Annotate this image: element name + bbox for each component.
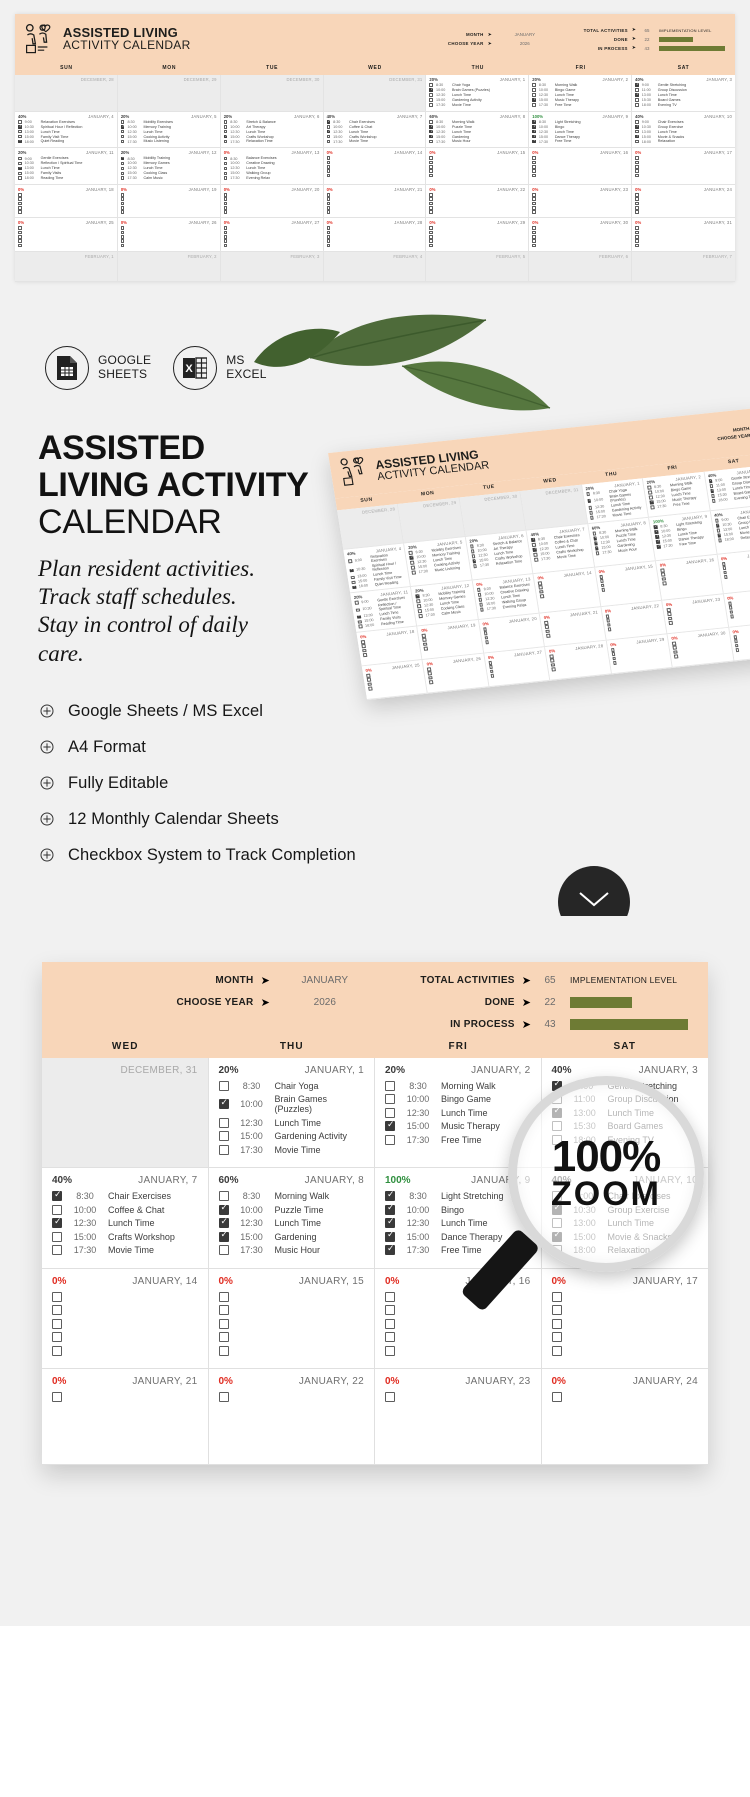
activity-row[interactable] xyxy=(327,156,423,160)
activity-checkbox[interactable] xyxy=(327,235,331,239)
zoomed-activity-row[interactable]: 12:30Lunch Time xyxy=(219,1218,365,1228)
activity-row[interactable]: 18:00Reading Time xyxy=(18,176,114,180)
zoomed-activity-row[interactable] xyxy=(219,1292,365,1302)
activity-row[interactable]: 15:30Board Games xyxy=(635,98,732,102)
activity-checkbox[interactable] xyxy=(635,193,639,197)
activity-row[interactable]: 8:30Mobility Training xyxy=(121,156,217,160)
activity-row[interactable] xyxy=(635,165,732,169)
activity-checkbox[interactable] xyxy=(121,244,125,248)
activity-row[interactable] xyxy=(429,239,525,243)
zoomed-activity-row[interactable]: 17:30Music Hour xyxy=(219,1245,365,1255)
activity-checkbox[interactable] xyxy=(18,157,22,161)
activity-row[interactable] xyxy=(121,239,217,243)
zoomed-activity-row[interactable]: 15:00Gardening xyxy=(219,1232,365,1242)
activity-row[interactable]: 10:00Bingo xyxy=(532,125,628,129)
activity-checkbox[interactable] xyxy=(121,206,125,210)
activity-checkbox[interactable] xyxy=(327,169,331,173)
activity-checkbox[interactable] xyxy=(18,202,22,206)
activity-row[interactable] xyxy=(635,231,732,235)
zoomed-activity-row[interactable] xyxy=(552,1305,699,1315)
activity-checkbox[interactable] xyxy=(327,197,331,201)
zoomed-activity-row[interactable] xyxy=(52,1305,198,1315)
scroll-down-button[interactable] xyxy=(558,866,630,916)
activity-checkbox[interactable] xyxy=(327,135,331,139)
activity-checkbox[interactable] xyxy=(429,244,433,248)
activity-row[interactable] xyxy=(121,226,217,230)
activity-row[interactable]: 9:00Relaxation Exercises xyxy=(18,120,114,124)
activity-row[interactable]: 15:00Gardening xyxy=(429,135,525,139)
activity-row[interactable] xyxy=(429,206,525,210)
activity-row[interactable] xyxy=(429,210,525,214)
activity-row[interactable]: 8:30Chair Yoga xyxy=(429,83,525,87)
activity-checkbox[interactable] xyxy=(532,156,536,160)
zoomed-activity-row[interactable]: 17:30Movie Time xyxy=(219,1145,365,1155)
zoomed-activity-checkbox[interactable] xyxy=(219,1131,229,1141)
zoomed-activity-row[interactable] xyxy=(52,1332,198,1342)
activity-row[interactable] xyxy=(635,206,732,210)
zoomed-activity-checkbox[interactable] xyxy=(219,1205,229,1215)
activity-checkbox[interactable] xyxy=(532,98,536,102)
activity-checkbox[interactable] xyxy=(327,193,331,197)
activity-row[interactable] xyxy=(532,161,628,165)
zoomed-activity-row[interactable] xyxy=(219,1332,365,1342)
activity-checkbox[interactable] xyxy=(121,167,125,171)
activity-checkbox[interactable] xyxy=(18,193,22,197)
activity-checkbox[interactable] xyxy=(429,103,433,107)
activity-checkbox[interactable] xyxy=(327,165,331,169)
activity-checkbox[interactable] xyxy=(121,130,125,134)
activity-row[interactable] xyxy=(224,231,320,235)
activity-row[interactable] xyxy=(532,193,628,197)
zoomed-activity-checkbox[interactable] xyxy=(385,1135,395,1145)
activity-row[interactable]: 15:00Music Therapy xyxy=(532,98,628,102)
zoomed-activity-checkbox[interactable] xyxy=(385,1094,395,1104)
activity-checkbox[interactable] xyxy=(327,210,331,214)
activity-row[interactable] xyxy=(224,226,320,230)
activity-checkbox[interactable] xyxy=(327,244,331,248)
zoomed-activity-checkbox[interactable] xyxy=(219,1346,229,1356)
activity-row[interactable] xyxy=(18,231,114,235)
activity-checkbox[interactable] xyxy=(635,93,639,97)
activity-row[interactable]: 13:00Lunch Time xyxy=(635,93,732,97)
activity-checkbox[interactable] xyxy=(429,239,433,243)
activity-checkbox[interactable] xyxy=(224,235,228,239)
zoomed-activity-checkbox[interactable] xyxy=(552,1319,562,1329)
activity-checkbox[interactable] xyxy=(18,130,22,134)
activity-checkbox[interactable] xyxy=(224,140,228,144)
activity-row[interactable]: 10:00Coffee & Chat xyxy=(327,125,423,129)
activity-row[interactable] xyxy=(18,244,114,248)
activity-checkbox[interactable] xyxy=(532,161,536,165)
zoomed-activity-checkbox[interactable] xyxy=(219,1319,229,1329)
activity-checkbox[interactable] xyxy=(532,210,536,214)
activity-checkbox[interactable] xyxy=(635,135,639,139)
activity-checkbox[interactable] xyxy=(121,157,125,161)
zoomed-activity-checkbox[interactable] xyxy=(385,1108,395,1118)
zoomed-activity-checkbox[interactable] xyxy=(219,1145,229,1155)
activity-checkbox[interactable] xyxy=(327,174,331,178)
zoomed-activity-checkbox[interactable] xyxy=(52,1191,62,1201)
activity-checkbox[interactable] xyxy=(429,226,433,230)
zoomed-activity-checkbox[interactable] xyxy=(52,1392,62,1402)
zoomed-activity-row[interactable] xyxy=(385,1305,531,1315)
activity-checkbox[interactable] xyxy=(327,140,331,144)
activity-checkbox[interactable] xyxy=(224,172,228,176)
activity-checkbox[interactable] xyxy=(532,83,536,87)
activity-checkbox[interactable] xyxy=(224,125,228,129)
activity-checkbox[interactable] xyxy=(532,231,536,235)
activity-row[interactable] xyxy=(429,197,525,201)
activity-checkbox[interactable] xyxy=(635,103,639,107)
activity-checkbox[interactable] xyxy=(224,197,228,201)
zoomed-activity-checkbox[interactable] xyxy=(552,1305,562,1315)
zoomed-activity-checkbox[interactable] xyxy=(219,1392,229,1402)
activity-row[interactable] xyxy=(327,161,423,165)
activity-checkbox[interactable] xyxy=(121,140,125,144)
activity-row[interactable]: 17:30Calm Music xyxy=(121,176,217,180)
activity-checkbox[interactable] xyxy=(18,197,22,201)
activity-checkbox[interactable] xyxy=(121,125,125,129)
activity-checkbox[interactable] xyxy=(429,135,433,139)
activity-checkbox[interactable] xyxy=(18,176,22,180)
activity-checkbox[interactable] xyxy=(532,165,536,169)
activity-row[interactable]: 17:30Movie Time xyxy=(429,103,525,107)
activity-checkbox[interactable] xyxy=(635,161,639,165)
activity-checkbox[interactable] xyxy=(532,88,536,92)
zoomed-activity-row[interactable] xyxy=(52,1319,198,1329)
activity-checkbox[interactable] xyxy=(121,226,125,230)
activity-row[interactable] xyxy=(224,193,320,197)
activity-checkbox[interactable] xyxy=(635,244,639,248)
zoomed-activity-row[interactable]: 15:00Crafts Workshop xyxy=(52,1232,198,1242)
activity-row[interactable] xyxy=(532,174,628,178)
activity-checkbox[interactable] xyxy=(532,226,536,230)
zoomed-activity-row[interactable] xyxy=(385,1292,531,1302)
activity-checkbox[interactable] xyxy=(635,235,639,239)
activity-checkbox[interactable] xyxy=(429,98,433,102)
activity-row[interactable]: 10:30Spiritual Hour / Reflection xyxy=(18,125,114,129)
activity-checkbox[interactable] xyxy=(635,231,639,235)
activity-row[interactable] xyxy=(327,244,423,248)
activity-checkbox[interactable] xyxy=(635,169,639,173)
activity-row[interactable]: 15:00Movie & Snacks xyxy=(635,135,732,139)
zoomed-activity-row[interactable] xyxy=(219,1319,365,1329)
activity-checkbox[interactable] xyxy=(429,165,433,169)
activity-row[interactable] xyxy=(635,244,732,248)
activity-row[interactable] xyxy=(18,202,114,206)
activity-checkbox[interactable] xyxy=(532,244,536,248)
activity-row[interactable]: 10:00Brain Games (Puzzles) xyxy=(429,88,525,92)
activity-row[interactable] xyxy=(532,235,628,239)
activity-checkbox[interactable] xyxy=(532,197,536,201)
activity-row[interactable] xyxy=(532,206,628,210)
activity-row[interactable] xyxy=(327,193,423,197)
activity-checkbox[interactable] xyxy=(327,231,331,235)
activity-row[interactable]: 12:30Lunch Time xyxy=(121,166,217,170)
activity-row[interactable] xyxy=(18,197,114,201)
zoomed-year-value[interactable]: 2026 xyxy=(277,997,373,1008)
activity-row[interactable] xyxy=(429,169,525,173)
activity-row[interactable] xyxy=(429,231,525,235)
activity-row[interactable]: 17:30Movie Time xyxy=(327,139,423,143)
zoomed-activity-checkbox[interactable] xyxy=(385,1292,395,1302)
zoomed-activity-row[interactable] xyxy=(552,1292,699,1302)
zoomed-activity-row[interactable]: 8:30Morning Walk xyxy=(219,1191,365,1201)
activity-row[interactable] xyxy=(121,235,217,239)
zoomed-activity-row[interactable] xyxy=(219,1346,365,1356)
activity-row[interactable]: 12:30Lunch Time xyxy=(532,93,628,97)
activity-row[interactable]: 9:00Chair Exercises xyxy=(635,120,732,124)
activity-checkbox[interactable] xyxy=(18,235,22,239)
zoomed-activity-row[interactable] xyxy=(385,1319,531,1329)
activity-row[interactable]: 10:00Memory Games xyxy=(121,161,217,165)
activity-checkbox[interactable] xyxy=(532,174,536,178)
activity-row[interactable]: 17:30Music Hour xyxy=(429,139,525,143)
activity-row[interactable] xyxy=(532,165,628,169)
zoomed-activity-checkbox[interactable] xyxy=(219,1099,229,1109)
activity-row[interactable] xyxy=(18,193,114,197)
activity-row[interactable] xyxy=(327,197,423,201)
activity-row[interactable] xyxy=(532,197,628,201)
activity-row[interactable] xyxy=(18,235,114,239)
zoomed-activity-checkbox[interactable] xyxy=(52,1332,62,1342)
activity-checkbox[interactable] xyxy=(224,130,228,134)
activity-checkbox[interactable] xyxy=(327,239,331,243)
zoomed-activity-row[interactable] xyxy=(552,1332,699,1342)
activity-checkbox[interactable] xyxy=(18,140,22,144)
activity-row[interactable]: 18:00Evening TV xyxy=(635,103,732,107)
activity-row[interactable]: 12:30Lunch Time xyxy=(224,166,320,170)
activity-row[interactable] xyxy=(224,210,320,214)
zoomed-activity-checkbox[interactable] xyxy=(385,1232,395,1242)
zoomed-month-value[interactable]: JANUARY xyxy=(277,975,373,986)
activity-checkbox[interactable] xyxy=(635,130,639,134)
activity-row[interactable] xyxy=(429,161,525,165)
zoomed-activity-row[interactable] xyxy=(385,1392,531,1402)
activity-row[interactable] xyxy=(429,174,525,178)
activity-row[interactable]: 17:30Free Time xyxy=(532,103,628,107)
activity-row[interactable] xyxy=(635,239,732,243)
activity-row[interactable] xyxy=(635,193,732,197)
zoomed-activity-row[interactable]: 15:00Gardening Activity xyxy=(219,1131,365,1141)
zoomed-activity-row[interactable]: 17:30Movie Time xyxy=(52,1245,198,1255)
activity-row[interactable] xyxy=(429,156,525,160)
zoomed-activity-row[interactable]: 8:30Chair Exercises xyxy=(52,1191,198,1201)
zoomed-activity-checkbox[interactable] xyxy=(385,1319,395,1329)
activity-row[interactable] xyxy=(224,244,320,248)
activity-checkbox[interactable] xyxy=(121,239,125,243)
activity-row[interactable]: 12:30Lunch Time xyxy=(532,130,628,134)
activity-checkbox[interactable] xyxy=(224,239,228,243)
activity-checkbox[interactable] xyxy=(429,130,433,134)
activity-row[interactable] xyxy=(429,165,525,169)
activity-row[interactable] xyxy=(327,169,423,173)
zoomed-activity-row[interactable] xyxy=(52,1392,198,1402)
year-value[interactable]: 2026 xyxy=(496,41,554,46)
activity-row[interactable] xyxy=(635,156,732,160)
zoomed-activity-checkbox[interactable] xyxy=(52,1232,62,1242)
activity-checkbox[interactable] xyxy=(635,98,639,102)
activity-row[interactable]: 9:00Gentle Exercises xyxy=(18,156,114,160)
activity-row[interactable]: 17:30Free Time xyxy=(532,139,628,143)
activity-checkbox[interactable] xyxy=(429,193,433,197)
activity-row[interactable]: 15:00Cooking Activity xyxy=(121,135,217,139)
activity-checkbox[interactable] xyxy=(532,169,536,173)
zoomed-activity-checkbox[interactable] xyxy=(219,1218,229,1228)
activity-checkbox[interactable] xyxy=(224,120,228,124)
activity-checkbox[interactable] xyxy=(121,135,125,139)
activity-checkbox[interactable] xyxy=(224,162,228,166)
activity-row[interactable] xyxy=(121,210,217,214)
zoomed-activity-checkbox[interactable] xyxy=(385,1245,395,1255)
activity-checkbox[interactable] xyxy=(327,156,331,160)
activity-checkbox[interactable] xyxy=(532,206,536,210)
zoomed-activity-row[interactable] xyxy=(552,1319,699,1329)
activity-row[interactable]: 9:00Gentle Stretching xyxy=(635,83,732,87)
activity-checkbox[interactable] xyxy=(121,210,125,214)
activity-row[interactable]: 8:30Morning Walk xyxy=(532,83,628,87)
zoomed-activity-checkbox[interactable] xyxy=(552,1392,562,1402)
zoomed-activity-row[interactable] xyxy=(552,1346,699,1356)
activity-checkbox[interactable] xyxy=(327,125,331,129)
activity-row[interactable]: 17:30Evening Relax xyxy=(224,176,320,180)
zoomed-activity-row[interactable] xyxy=(219,1392,365,1402)
activity-checkbox[interactable] xyxy=(224,135,228,139)
activity-checkbox[interactable] xyxy=(429,197,433,201)
activity-checkbox[interactable] xyxy=(224,231,228,235)
activity-row[interactable] xyxy=(532,210,628,214)
activity-row[interactable] xyxy=(18,210,114,214)
activity-row[interactable] xyxy=(327,202,423,206)
activity-checkbox[interactable] xyxy=(635,202,639,206)
zoomed-activity-row[interactable]: 12:30Lunch Time xyxy=(52,1218,198,1228)
activity-row[interactable]: 15:00Gardening Activity xyxy=(429,98,525,102)
activity-row[interactable]: 15:00Cooking Class xyxy=(121,171,217,175)
zoomed-activity-checkbox[interactable] xyxy=(552,1346,562,1356)
activity-checkbox[interactable] xyxy=(429,125,433,129)
activity-checkbox[interactable] xyxy=(532,140,536,144)
activity-row[interactable]: 11:00Group Discussion xyxy=(635,88,732,92)
activity-checkbox[interactable] xyxy=(18,244,22,248)
zoomed-activity-checkbox[interactable] xyxy=(219,1305,229,1315)
activity-row[interactable] xyxy=(18,239,114,243)
activity-row[interactable]: 8:30Morning Walk xyxy=(429,120,525,124)
zoomed-activity-checkbox[interactable] xyxy=(219,1081,229,1091)
activity-checkbox[interactable] xyxy=(429,93,433,97)
activity-row[interactable] xyxy=(532,239,628,243)
activity-row[interactable]: 13:00Lunch Time xyxy=(635,130,732,134)
activity-row[interactable] xyxy=(429,193,525,197)
activity-row[interactable] xyxy=(121,244,217,248)
activity-row[interactable] xyxy=(635,169,732,173)
activity-row[interactable]: 10:00Bingo Game xyxy=(532,88,628,92)
activity-row[interactable] xyxy=(327,174,423,178)
activity-checkbox[interactable] xyxy=(327,226,331,230)
zoomed-activity-row[interactable]: 10:00Brain Games (Puzzles) xyxy=(219,1094,365,1114)
activity-checkbox[interactable] xyxy=(18,231,22,235)
activity-checkbox[interactable] xyxy=(635,165,639,169)
activity-checkbox[interactable] xyxy=(224,226,228,230)
activity-row[interactable] xyxy=(635,197,732,201)
activity-row[interactable]: 12:30Lunch Time xyxy=(429,93,525,97)
zoomed-activity-checkbox[interactable] xyxy=(385,1191,395,1201)
activity-row[interactable] xyxy=(429,244,525,248)
activity-row[interactable]: 10:00Puzzle Time xyxy=(429,125,525,129)
activity-row[interactable] xyxy=(121,202,217,206)
activity-row[interactable] xyxy=(635,235,732,239)
activity-row[interactable]: 10:00Art Therapy xyxy=(224,125,320,129)
zoomed-activity-checkbox[interactable] xyxy=(219,1232,229,1242)
activity-checkbox[interactable] xyxy=(121,202,125,206)
activity-checkbox[interactable] xyxy=(224,206,228,210)
activity-checkbox[interactable] xyxy=(429,140,433,144)
activity-row[interactable]: 15:00Family Visit Time xyxy=(18,135,114,139)
activity-row[interactable] xyxy=(429,202,525,206)
activity-checkbox[interactable] xyxy=(635,239,639,243)
zoomed-activity-checkbox[interactable] xyxy=(52,1346,62,1356)
zoomed-activity-checkbox[interactable] xyxy=(52,1205,62,1215)
activity-row[interactable] xyxy=(327,206,423,210)
activity-checkbox[interactable] xyxy=(224,193,228,197)
activity-checkbox[interactable] xyxy=(224,176,228,180)
activity-checkbox[interactable] xyxy=(18,210,22,214)
activity-checkbox[interactable] xyxy=(18,239,22,243)
activity-row[interactable] xyxy=(327,226,423,230)
activity-checkbox[interactable] xyxy=(121,231,125,235)
activity-checkbox[interactable] xyxy=(429,88,433,92)
activity-checkbox[interactable] xyxy=(429,210,433,214)
activity-checkbox[interactable] xyxy=(429,235,433,239)
activity-checkbox[interactable] xyxy=(635,206,639,210)
zoomed-activity-checkbox[interactable] xyxy=(385,1081,395,1091)
zoomed-activity-row[interactable] xyxy=(552,1392,699,1402)
activity-row[interactable]: 15:00Family Visits xyxy=(18,171,114,175)
activity-checkbox[interactable] xyxy=(327,206,331,210)
activity-row[interactable] xyxy=(121,231,217,235)
zoomed-activity-checkbox[interactable] xyxy=(385,1346,395,1356)
activity-row[interactable]: 8:30Balance Exercises xyxy=(224,156,320,160)
activity-checkbox[interactable] xyxy=(327,120,331,124)
activity-checkbox[interactable] xyxy=(532,193,536,197)
activity-checkbox[interactable] xyxy=(532,125,536,129)
zoomed-activity-checkbox[interactable] xyxy=(219,1245,229,1255)
activity-checkbox[interactable] xyxy=(121,176,125,180)
activity-row[interactable]: 8:30Mobility Exercises xyxy=(121,120,217,124)
activity-checkbox[interactable] xyxy=(429,206,433,210)
activity-row[interactable] xyxy=(635,202,732,206)
activity-checkbox[interactable] xyxy=(635,125,639,129)
zoomed-activity-checkbox[interactable] xyxy=(219,1118,229,1128)
activity-row[interactable] xyxy=(224,202,320,206)
activity-checkbox[interactable] xyxy=(327,130,331,134)
zoomed-activity-checkbox[interactable] xyxy=(385,1205,395,1215)
activity-row[interactable] xyxy=(327,231,423,235)
activity-checkbox[interactable] xyxy=(429,161,433,165)
activity-row[interactable] xyxy=(532,202,628,206)
activity-row[interactable] xyxy=(121,197,217,201)
zoomed-activity-checkbox[interactable] xyxy=(552,1292,562,1302)
zoomed-activity-checkbox[interactable] xyxy=(219,1191,229,1201)
activity-checkbox[interactable] xyxy=(18,226,22,230)
zoomed-activity-checkbox[interactable] xyxy=(52,1319,62,1329)
activity-row[interactable] xyxy=(18,226,114,230)
zoomed-activity-row[interactable]: 10:00Puzzle Time xyxy=(219,1205,365,1215)
activity-row[interactable] xyxy=(121,206,217,210)
activity-checkbox[interactable] xyxy=(121,235,125,239)
activity-row[interactable]: 15:00Walking Group xyxy=(224,171,320,175)
zoomed-activity-checkbox[interactable] xyxy=(219,1332,229,1342)
activity-checkbox[interactable] xyxy=(224,202,228,206)
